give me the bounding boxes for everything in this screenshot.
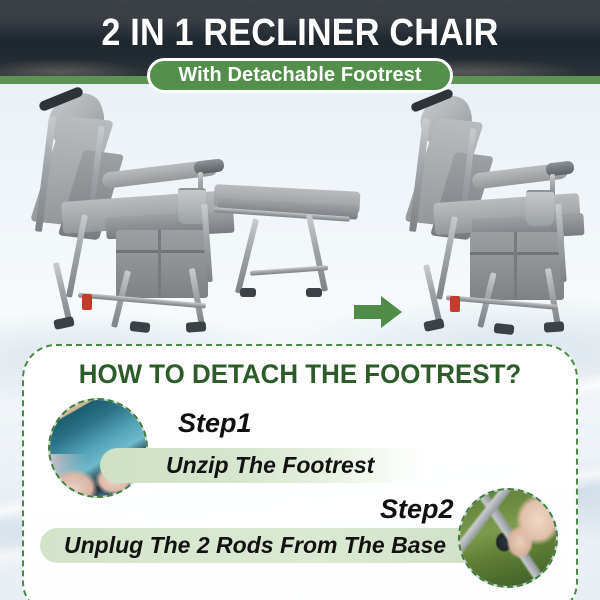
pocket-divider [158,230,161,298]
pocket-seam [116,250,208,253]
footrest-leg-front [235,218,259,293]
footrest-leg-rear [306,214,328,292]
pocket-divider [514,232,517,300]
step1-label: Step1 [178,408,252,438]
pocket-seam [470,252,564,255]
chair-with-footrest-image [18,92,358,332]
detach-heading: HOW TO DETACH THE FOOTREST? [33,358,567,390]
product-infographic: 2 IN 1 RECLINER CHAIR With Detachable Fo… [0,0,600,600]
footrest-foot-front [240,288,256,297]
page-title: 2 IN 1 RECLINER CHAIR [30,11,570,55]
red-lock-knob [450,296,460,312]
step2-rods-photo [460,490,556,586]
chair-foot-rear [423,318,445,332]
arrow-right-icon [354,295,402,329]
step1-instruction-bar: Unzip The Footrest [100,448,430,483]
red-lock-knob [82,294,92,310]
chair-foot-mid [130,321,151,333]
chair-foot-mid [494,323,515,335]
footrest-crossbar [250,265,328,275]
step2-photo-circle [458,488,558,588]
chair-foot-front [544,321,565,332]
step2-label: Step2 [380,494,454,524]
product-photo-zone [0,84,600,334]
chair-foot-rear [53,316,75,330]
footrest-foot-rear [306,288,322,297]
chair-without-footrest-image [398,92,594,332]
chair-foot-front [186,321,207,332]
cup-holder [526,190,554,226]
step2-instruction-bar: Unplug The 2 Rods From The Base [40,528,488,563]
